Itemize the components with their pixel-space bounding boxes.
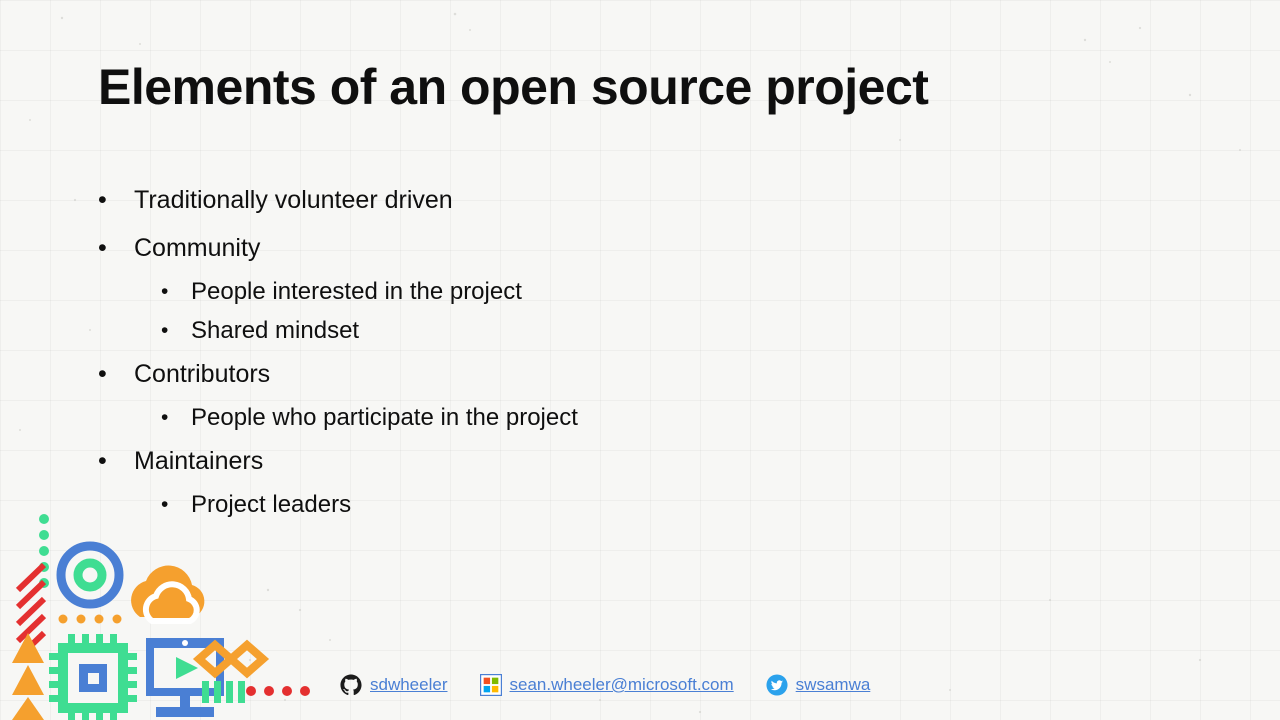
contact-label[interactable]: sean.wheeler@microsoft.com [510, 675, 734, 695]
orange-cloud [131, 566, 204, 621]
bullet-text: Shared mindset [191, 311, 359, 350]
orange-triangles [12, 633, 44, 720]
bullet-marker: • [98, 350, 134, 398]
bullet-item-level1: • Community [98, 224, 998, 272]
contact-github[interactable]: sdwheeler [340, 674, 448, 696]
bullet-item-level2: • People interested in the project [98, 272, 998, 311]
blue-target-ring [61, 546, 119, 604]
contact-label[interactable]: sdwheeler [370, 675, 448, 695]
green-cpu-chip [49, 634, 137, 720]
github-icon [340, 674, 362, 696]
bullet-item-level2: • Shared mindset [98, 311, 998, 350]
bullet-text: Contributors [134, 350, 270, 398]
contact-label[interactable]: swsamwa [796, 675, 871, 695]
red-dots-row [246, 686, 310, 696]
contact-email[interactable]: sean.wheeler@microsoft.com [480, 674, 734, 696]
bullet-item-level1: • Maintainers [98, 437, 998, 485]
orange-dots-row [59, 615, 122, 624]
bullet-text: Maintainers [134, 437, 263, 485]
slide: Elements of an open source project • Tra… [0, 0, 1280, 720]
bullet-item-level1: • Traditionally volunteer driven [98, 176, 998, 224]
bullet-marker: • [161, 311, 191, 350]
contact-twitter[interactable]: swsamwa [766, 674, 871, 696]
bullet-item-level2: • People who participate in the project [98, 398, 998, 437]
page-title: Elements of an open source project [98, 58, 928, 116]
bullet-marker: • [98, 437, 134, 485]
tech-icon-cluster [0, 495, 310, 720]
bullet-item-level1: • Contributors [98, 350, 998, 398]
green-dot-column [39, 514, 49, 588]
bullet-text: People who participate in the project [191, 398, 578, 437]
microsoft-icon [480, 674, 502, 696]
twitter-icon [766, 674, 788, 696]
contact-bar: sdwheeler sean.wheeler@microsoft.com sws… [340, 674, 902, 696]
bullet-marker: • [98, 176, 134, 224]
bullet-text: Community [134, 224, 260, 272]
bullet-marker: • [161, 398, 191, 437]
bullet-list: • Traditionally volunteer driven • Commu… [98, 176, 998, 524]
bullet-text: Traditionally volunteer driven [134, 176, 453, 224]
bullet-marker: • [161, 272, 191, 311]
bullet-marker: • [98, 224, 134, 272]
bullet-text: People interested in the project [191, 272, 522, 311]
